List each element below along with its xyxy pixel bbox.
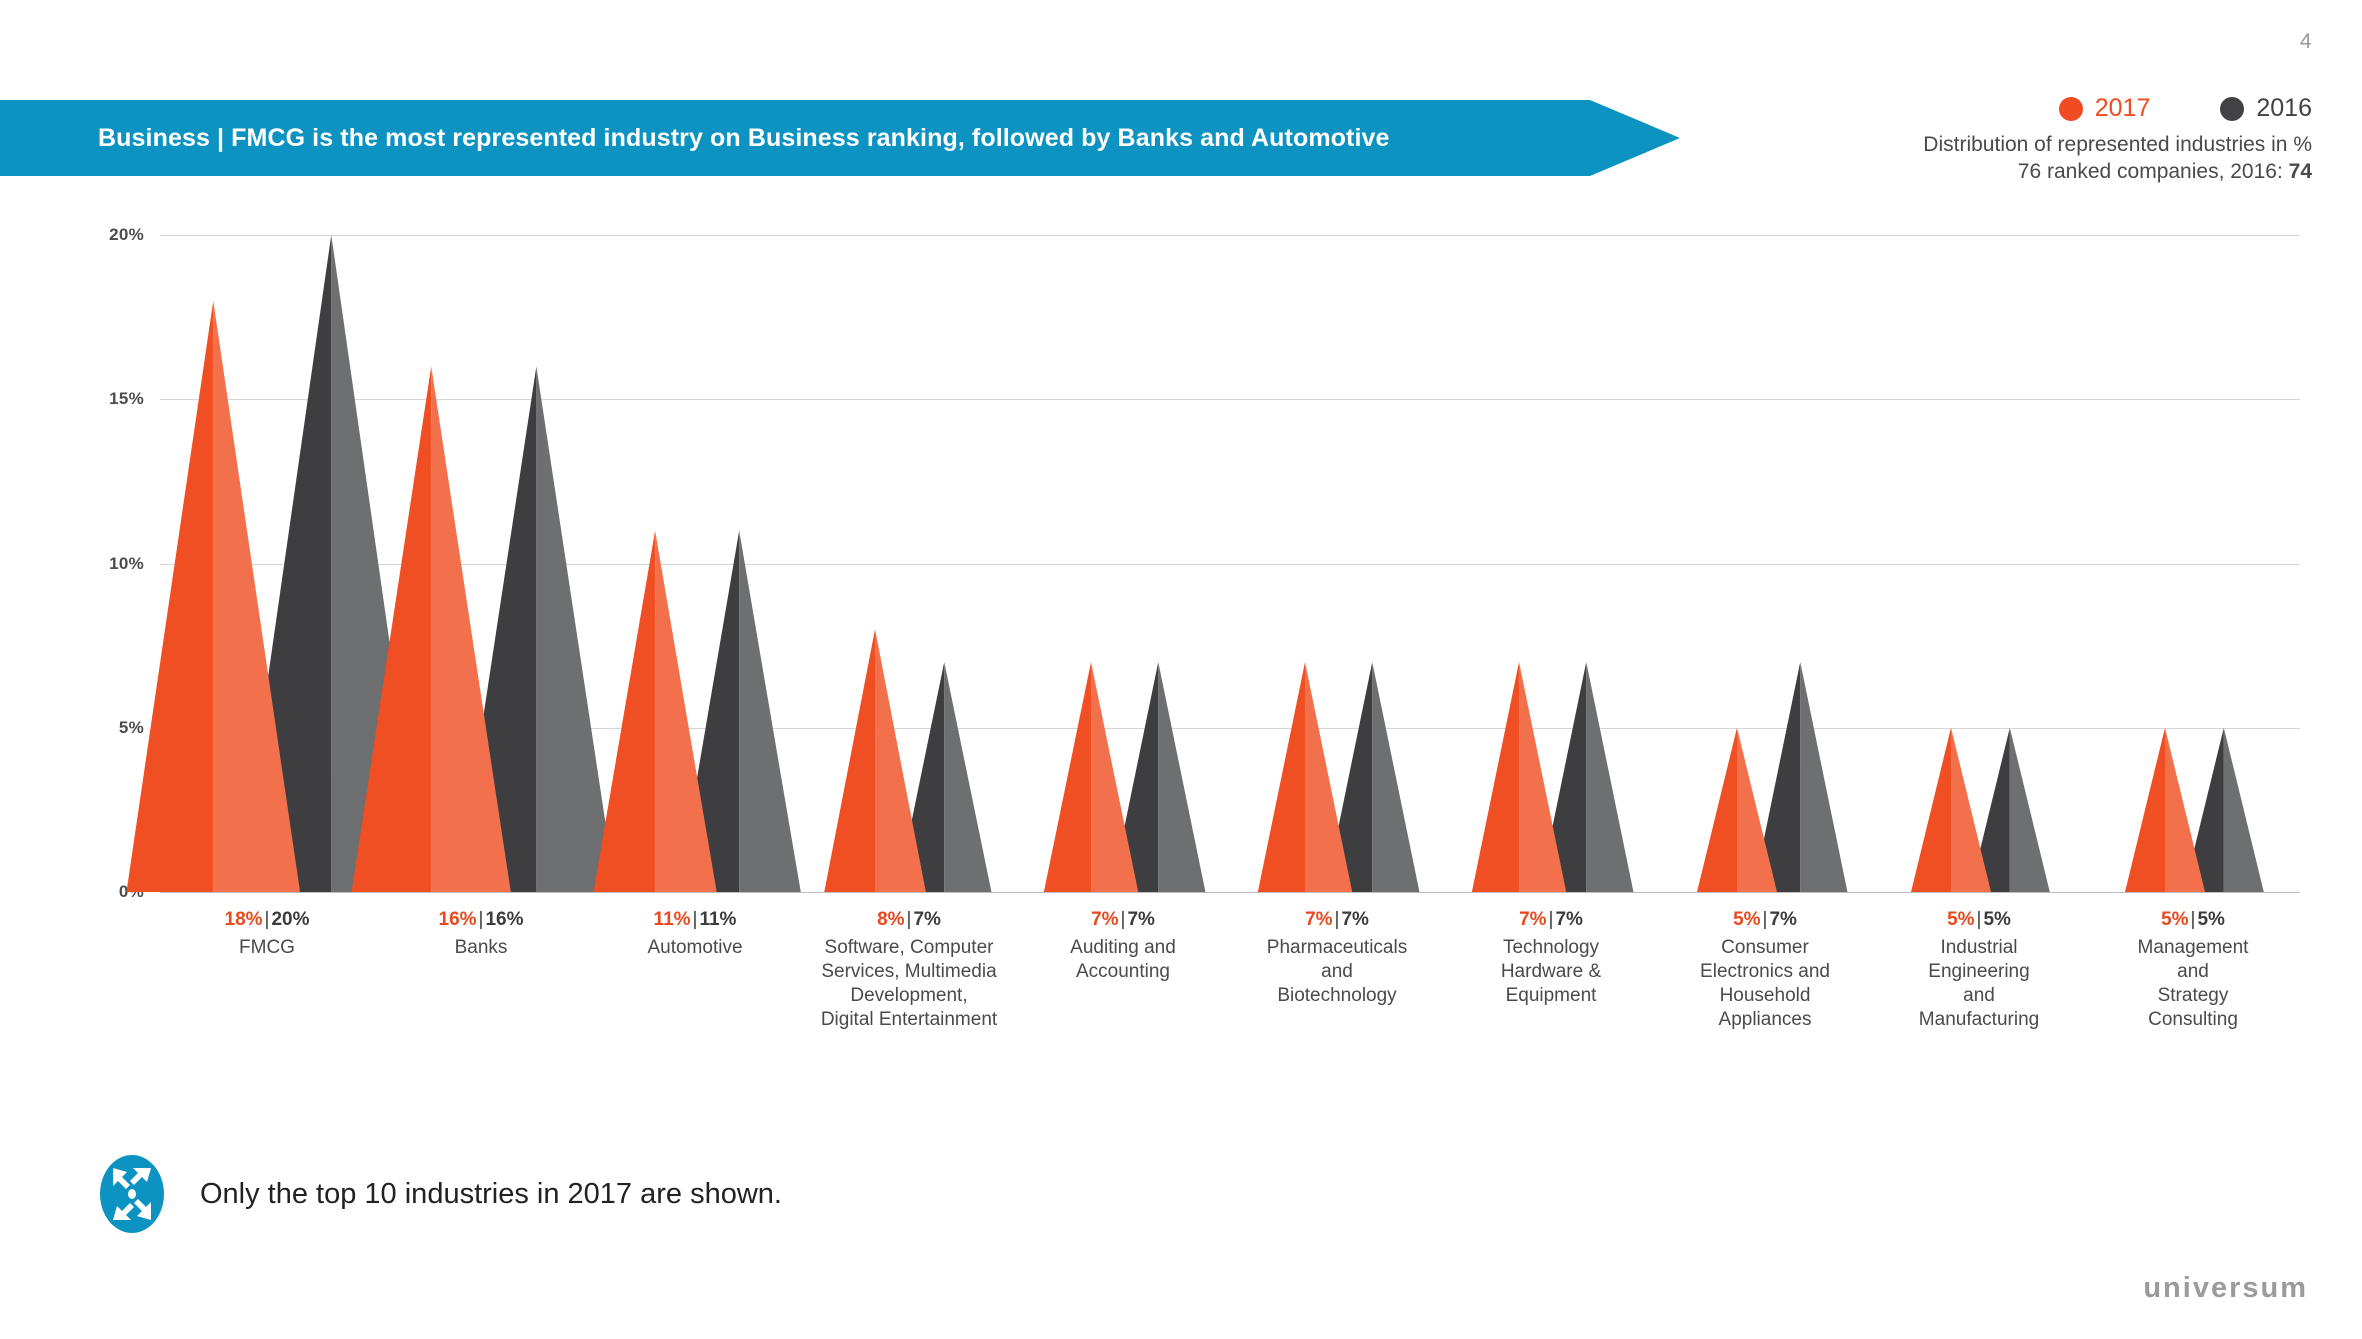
category-name-line: Household: [1648, 984, 1882, 1008]
value-labels-7: 5%|7%: [1648, 908, 1882, 932]
value-2016-0: 20%: [271, 909, 309, 930]
category-name-line: Software, Computer: [792, 936, 1026, 960]
page-number: 4: [2300, 30, 2312, 54]
gridline-0%: [160, 892, 2300, 893]
category-name-line: Appliances: [1648, 1008, 1882, 1032]
subtitle-line-2-prefix: 76 ranked companies, 2016:: [2018, 160, 2289, 183]
cone-2017-3: [824, 629, 926, 892]
category-name-line: Industrial: [1862, 936, 2096, 960]
value-labels-1: 16%|16%: [364, 908, 598, 932]
legend-item-2016[interactable]: 2016: [2220, 96, 2312, 121]
category-name-line: Electronics and: [1648, 960, 1882, 984]
value-2017-4: 7%: [1091, 909, 1118, 930]
category-name-line: Development,: [792, 984, 1026, 1008]
value-2016-8: 5%: [1983, 909, 2010, 930]
value-labels-0: 18%|20%: [150, 908, 384, 932]
chart-subtitle: Distribution of represented industries i…: [1923, 132, 2312, 186]
value-2017-8: 5%: [1947, 909, 1974, 930]
legend-dot-2017: [2059, 97, 2083, 121]
y-axis-tick-0%: 0%: [64, 882, 144, 902]
category-name-line: and: [1862, 984, 2096, 1008]
universum-logo: universum: [2143, 1272, 2308, 1305]
value-2016-7: 7%: [1769, 909, 1796, 930]
category-name-9: ManagementandStrategyConsulting: [2076, 936, 2310, 1032]
cone-2016-7: [1753, 662, 1847, 892]
cone-2016-4: [1111, 662, 1205, 892]
value-separator-6: |: [1547, 909, 1556, 930]
category-name-line: Automotive: [578, 936, 812, 960]
gridline-5%: [160, 728, 2300, 729]
subtitle-ranked-count-2016: 74: [2289, 160, 2312, 183]
value-2017-2: 11%: [654, 909, 691, 930]
value-separator-7: |: [1761, 909, 1770, 930]
value-separator-3: |: [905, 909, 914, 930]
value-labels-8: 5%|5%: [1862, 908, 2096, 932]
arrows-inward-icon: [100, 1155, 164, 1233]
title-banner: Business | FMCG is the most represented …: [0, 100, 1680, 176]
category-name-6: TechnologyHardware &Equipment: [1434, 936, 1668, 1008]
cone-2016-5: [1325, 662, 1419, 892]
category-name-line: Hardware &: [1434, 960, 1668, 984]
footnote-text: Only the top 10 industries in 2017 are s…: [200, 1178, 782, 1211]
value-2017-1: 16%: [439, 909, 477, 930]
x-axis-group-1: 16%|16%Banks: [364, 908, 598, 960]
x-axis-group-4: 7%|7%Auditing andAccounting: [1006, 908, 1240, 984]
x-axis-group-9: 5%|5%ManagementandStrategyConsulting: [2076, 908, 2310, 1032]
y-axis-tick-10%: 10%: [64, 554, 144, 574]
y-axis-tick-20%: 20%: [64, 225, 144, 245]
value-labels-9: 5%|5%: [2076, 908, 2310, 932]
chart-legend: 2017 2016: [2059, 96, 2312, 121]
cone-2016-9: [2184, 728, 2264, 892]
value-labels-4: 7%|7%: [1006, 908, 1240, 932]
value-2016-5: 7%: [1341, 909, 1368, 930]
subtitle-line-1: Distribution of represented industries i…: [1923, 132, 2312, 159]
value-2016-1: 16%: [485, 909, 523, 930]
x-axis-group-0: 18%|20%FMCG: [150, 908, 384, 960]
y-axis-tick-15%: 15%: [64, 389, 144, 409]
x-axis-group-7: 5%|7%ConsumerElectronics andHouseholdApp…: [1648, 908, 1882, 1032]
category-name-line: FMCG: [150, 936, 384, 960]
legend-label-2016: 2016: [2256, 96, 2312, 121]
gridline-10%: [160, 564, 2300, 565]
cone-2017-8: [1911, 728, 1991, 892]
legend-item-2017[interactable]: 2017: [2059, 96, 2151, 121]
category-name-line: Services, Multimedia: [792, 960, 1026, 984]
value-2016-6: 7%: [1555, 909, 1582, 930]
x-axis-group-5: 7%|7%PharmaceuticalsandBiotechnology: [1220, 908, 1454, 1008]
cone-2017-0: [126, 301, 300, 892]
cone-2017-5: [1258, 662, 1352, 892]
value-separator-8: |: [1975, 909, 1984, 930]
value-separator-1: |: [477, 909, 486, 930]
y-axis-tick-5%: 5%: [64, 718, 144, 738]
cone-2017-6: [1472, 662, 1566, 892]
category-name-line: Technology: [1434, 936, 1668, 960]
page-title: Business | FMCG is the most represented …: [98, 100, 1390, 176]
value-2017-0: 18%: [225, 909, 263, 930]
cone-2016-6: [1539, 662, 1633, 892]
category-name-line: Biotechnology: [1220, 984, 1454, 1008]
cone-chart: 0%5%10%15%20% 18%|20%FMCG16%|16%Banks11%…: [0, 0, 2362, 1339]
category-name-7: ConsumerElectronics andHouseholdApplianc…: [1648, 936, 1882, 1032]
category-name-line: Strategy: [2076, 984, 2310, 1008]
cone-2017-9: [2125, 728, 2205, 892]
value-2017-5: 7%: [1305, 909, 1332, 930]
cone-2016-8: [1970, 728, 2050, 892]
category-name-line: Management: [2076, 936, 2310, 960]
category-name-line: Digital Entertainment: [792, 1008, 1026, 1032]
category-name-line: Consumer: [1648, 936, 1882, 960]
footnote: Only the top 10 industries in 2017 are s…: [100, 1155, 782, 1233]
legend-dot-2016: [2220, 97, 2244, 121]
category-name-2: Automotive: [578, 936, 812, 960]
chart-cones: [0, 0, 2362, 1339]
value-2016-9: 5%: [2197, 909, 2224, 930]
category-name-0: FMCG: [150, 936, 384, 960]
value-labels-5: 7%|7%: [1220, 908, 1454, 932]
cone-2017-7: [1697, 728, 1777, 892]
value-separator-2: |: [691, 909, 700, 930]
category-name-line: Accounting: [1006, 960, 1240, 984]
category-name-line: Pharmaceuticals: [1220, 936, 1454, 960]
cone-2016-3: [897, 662, 991, 892]
value-2016-3: 7%: [913, 909, 940, 930]
category-name-1: Banks: [364, 936, 598, 960]
value-2016-4: 7%: [1127, 909, 1154, 930]
value-labels-2: 11%|11%: [578, 908, 812, 932]
value-2017-7: 5%: [1733, 909, 1760, 930]
cone-2017-4: [1044, 662, 1138, 892]
category-name-5: PharmaceuticalsandBiotechnology: [1220, 936, 1454, 1008]
value-separator-9: |: [2189, 909, 2198, 930]
value-2017-3: 8%: [877, 909, 904, 930]
value-labels-3: 8%|7%: [792, 908, 1026, 932]
value-2017-9: 5%: [2161, 909, 2188, 930]
x-axis-group-6: 7%|7%TechnologyHardware &Equipment: [1434, 908, 1668, 1008]
value-separator-5: |: [1333, 909, 1342, 930]
category-name-line: Engineering: [1862, 960, 2096, 984]
category-name-3: Software, ComputerServices, MultimediaDe…: [792, 936, 1026, 1032]
gridline-20%: [160, 235, 2300, 236]
cone-2016-1: [457, 366, 616, 892]
cone-2016-2: [678, 531, 801, 892]
category-name-line: Banks: [364, 936, 598, 960]
category-name-line: Consulting: [2076, 1008, 2310, 1032]
x-axis-group-8: 5%|5%IndustrialEngineeringandManufacturi…: [1862, 908, 2096, 1032]
category-name-line: and: [2076, 960, 2310, 984]
category-name-8: IndustrialEngineeringandManufacturing: [1862, 936, 2096, 1032]
gridline-15%: [160, 399, 2300, 400]
category-name-line: Equipment: [1434, 984, 1668, 1008]
value-separator-4: |: [1119, 909, 1128, 930]
cone-2017-2: [594, 531, 717, 892]
value-2016-2: 11%: [699, 909, 736, 930]
value-labels-6: 7%|7%: [1434, 908, 1668, 932]
value-2017-6: 7%: [1519, 909, 1546, 930]
category-name-line: Manufacturing: [1862, 1008, 2096, 1032]
x-axis-group-3: 8%|7%Software, ComputerServices, Multime…: [792, 908, 1026, 1032]
subtitle-line-2: 76 ranked companies, 2016: 74: [1923, 159, 2312, 186]
cone-2016-0: [237, 235, 425, 892]
category-name-line: Auditing and: [1006, 936, 1240, 960]
value-separator-0: |: [263, 909, 272, 930]
category-name-line: and: [1220, 960, 1454, 984]
legend-label-2017: 2017: [2095, 96, 2151, 121]
cone-2017-1: [352, 366, 511, 892]
category-name-4: Auditing andAccounting: [1006, 936, 1240, 984]
x-axis-group-2: 11%|11%Automotive: [578, 908, 812, 960]
